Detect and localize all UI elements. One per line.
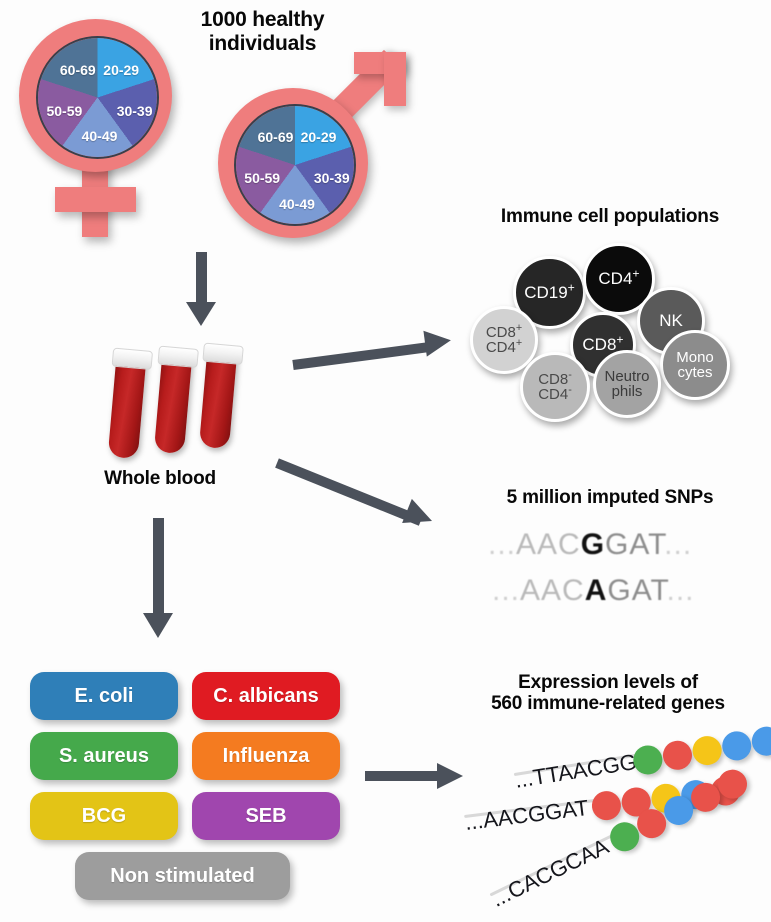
female-gender-symbol: 20-2930-3940-4950-5960-69 bbox=[14, 14, 189, 239]
age-group-label-50-59: 50-59 bbox=[46, 103, 82, 119]
expression-panel-title: Expression levels of 560 immune-related … bbox=[448, 672, 768, 715]
cohort-title-line1: 1000 healthy bbox=[160, 8, 365, 32]
stimuli-box-grid: E. coliC. albicansS. aureusInfluenzaBCGS… bbox=[30, 672, 350, 892]
female-stem-horizontal bbox=[55, 187, 136, 212]
stimulus-label: Non stimulated bbox=[110, 865, 254, 888]
dna-sequence-label: ...AACGGAT bbox=[463, 795, 590, 836]
stimulus-label: C. albicans bbox=[213, 685, 319, 708]
immune-cell-cd8: CD8+ bbox=[570, 312, 636, 378]
age-group-label-50-59: 50-59 bbox=[244, 170, 280, 186]
age-group-label-40-49: 40-49 bbox=[82, 128, 118, 144]
figure-canvas: 1000 healthy individuals 20-2930-3940-49… bbox=[0, 0, 771, 922]
whole-blood-label: Whole blood bbox=[60, 468, 260, 489]
immune-cell-label: NK bbox=[659, 312, 683, 329]
stimulus-box-c-albicans[interactable]: C. albicans bbox=[192, 672, 340, 720]
expression-title-line2: 560 immune-related genes bbox=[448, 693, 768, 714]
snp-sequence-row: ...AACGGAT... bbox=[488, 528, 692, 562]
immune-cell-monocytes: Monocytes bbox=[660, 330, 730, 400]
snp-sequence-row: ...AACAGAT... bbox=[492, 574, 695, 608]
stimulus-label: BCG bbox=[82, 805, 126, 828]
immune-panel-title: Immune cell populations bbox=[455, 206, 765, 227]
male-arrow-barb-horizontal bbox=[384, 52, 406, 106]
gene-bead bbox=[590, 789, 622, 821]
blood-tube bbox=[199, 352, 237, 449]
stimulus-label: Influenza bbox=[223, 745, 310, 768]
age-group-label-20-29: 20-29 bbox=[103, 62, 139, 78]
immune-cell-label: CD19+ bbox=[524, 284, 575, 301]
stimulus-box-s-aureus[interactable]: S. aureus bbox=[30, 732, 178, 780]
stimulus-box-bcg[interactable]: BCG bbox=[30, 792, 178, 840]
stimulus-box-non-stimulated[interactable]: Non stimulated bbox=[75, 852, 290, 900]
page-title-cohort: 1000 healthy individuals bbox=[160, 8, 365, 55]
stimulus-box-influenza[interactable]: Influenza bbox=[192, 732, 340, 780]
gene-expression-strands: ...TTAACGG...AACGGAT...CACGCAA bbox=[455, 735, 771, 915]
stimulus-label: SEB bbox=[245, 805, 286, 828]
stimulus-box-seb[interactable]: SEB bbox=[192, 792, 340, 840]
male-age-pie-chart: 20-2930-3940-4950-5960-69 bbox=[234, 104, 356, 226]
immune-cell-cd8-cd4-: CD8-CD4- bbox=[520, 352, 590, 422]
age-group-label-40-49: 40-49 bbox=[279, 196, 315, 212]
gene-bead bbox=[750, 725, 771, 758]
age-group-label-20-29: 20-29 bbox=[301, 129, 337, 145]
immune-cell-label: CD8-CD4- bbox=[538, 372, 572, 403]
immune-cell-cd19: CD19+ bbox=[513, 256, 586, 329]
immune-cell-label: CD8+ bbox=[582, 336, 623, 353]
snp-panel-title: 5 million imputed SNPs bbox=[455, 487, 765, 508]
immune-cell-label: Monocytes bbox=[676, 350, 714, 381]
blood-tube bbox=[154, 355, 192, 454]
dna-sequence-label: ...CACGCAA bbox=[487, 834, 613, 913]
stimulus-label: S. aureus bbox=[59, 745, 149, 768]
immune-cell-neutrophils: Neutrophils bbox=[593, 350, 661, 418]
female-age-pie-chart: 20-2930-3940-4950-5960-69 bbox=[36, 36, 159, 159]
male-gender-symbol: 20-2930-3940-4950-5960-69 bbox=[198, 50, 413, 250]
age-group-label-60-69: 60-69 bbox=[258, 129, 294, 145]
stimulus-label: E. coli bbox=[75, 685, 134, 708]
immune-cell-label: Neutrophils bbox=[604, 369, 649, 400]
whole-blood-tubes bbox=[110, 340, 260, 460]
immune-cell-label: CD4+ bbox=[598, 270, 639, 287]
immune-cell-cd4: CD4+ bbox=[583, 243, 655, 315]
immune-cell-label: CD8+CD4+ bbox=[486, 325, 522, 356]
age-group-label-60-69: 60-69 bbox=[60, 62, 96, 78]
age-group-label-30-39: 30-39 bbox=[117, 103, 153, 119]
gene-bead bbox=[661, 739, 694, 772]
snp-sequence-group: ...AACGGAT......AACAGAT... bbox=[488, 528, 748, 618]
gene-bead bbox=[691, 734, 724, 767]
blood-tube bbox=[108, 357, 147, 459]
immune-cell-nk: NK bbox=[637, 287, 705, 355]
expression-title-line1: Expression levels of bbox=[448, 672, 768, 693]
age-group-label-30-39: 30-39 bbox=[314, 170, 350, 186]
immune-cell-cd8cd4: CD8+CD4+ bbox=[470, 306, 538, 374]
stimulus-box-e-coli[interactable]: E. coli bbox=[30, 672, 178, 720]
